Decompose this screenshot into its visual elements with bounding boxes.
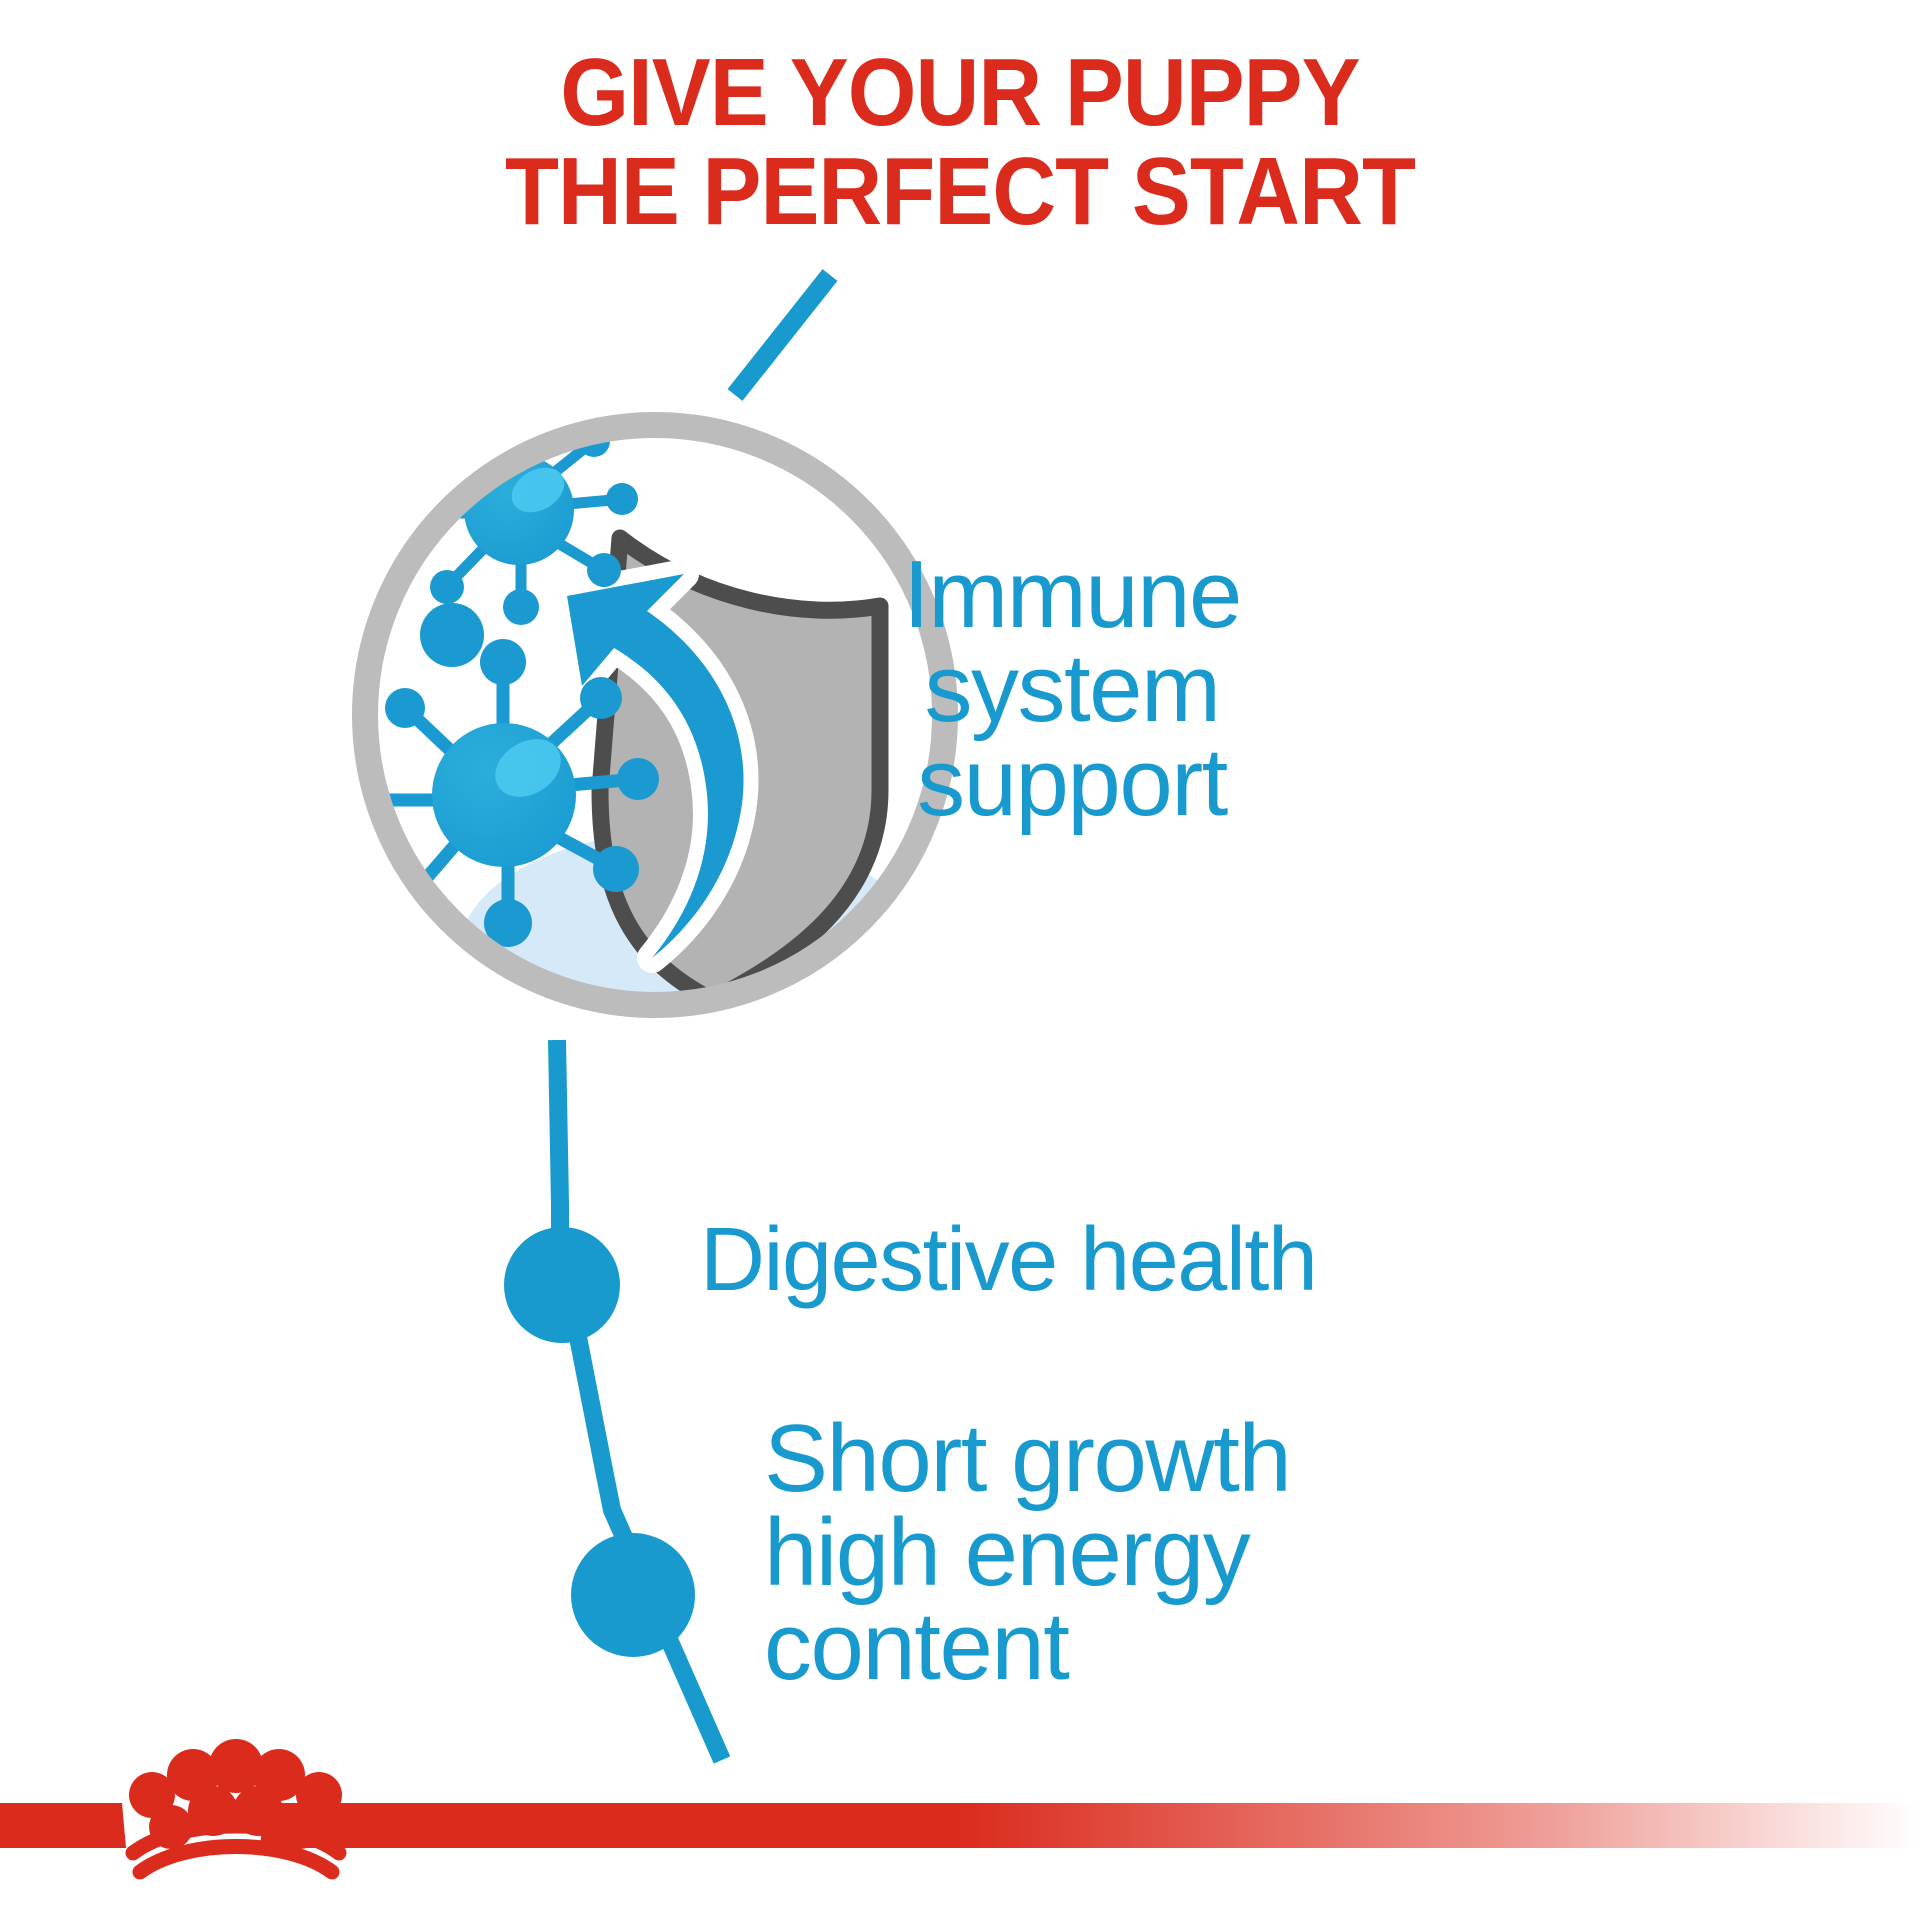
benefit-label-short-growth-high-energy-content: Short growth high energy content [764,1412,1290,1694]
virus-dot-icon [420,603,484,667]
page-headline: GIVE YOUR PUPPY THE PERFECT START [77,44,1843,242]
connector-dot-growth [571,1533,695,1657]
royal-canin-crown-logo [129,1739,342,1872]
deflect-arrow-icon [567,574,744,958]
crown-arc-lower [140,1847,332,1873]
connector-dot-digestive [504,1227,620,1343]
infographic-canvas: GIVE YOUR PUPPY THE PERFECT START Immune… [0,0,1920,1920]
footer-bar-left [0,1803,126,1848]
connector-main-line [557,1040,722,1760]
footer-bar-right [260,1803,1920,1848]
benefit-label-digestive-health: Digestive health [700,1216,1316,1304]
connector-top-stem [735,275,830,395]
virus-large-icon [346,639,659,947]
ground-ellipse [460,830,920,1070]
crown-arc-upper [133,1826,339,1853]
benefit-label-immune-system-support: Immune system support [792,548,1352,830]
virus-small-icon [399,392,638,625]
